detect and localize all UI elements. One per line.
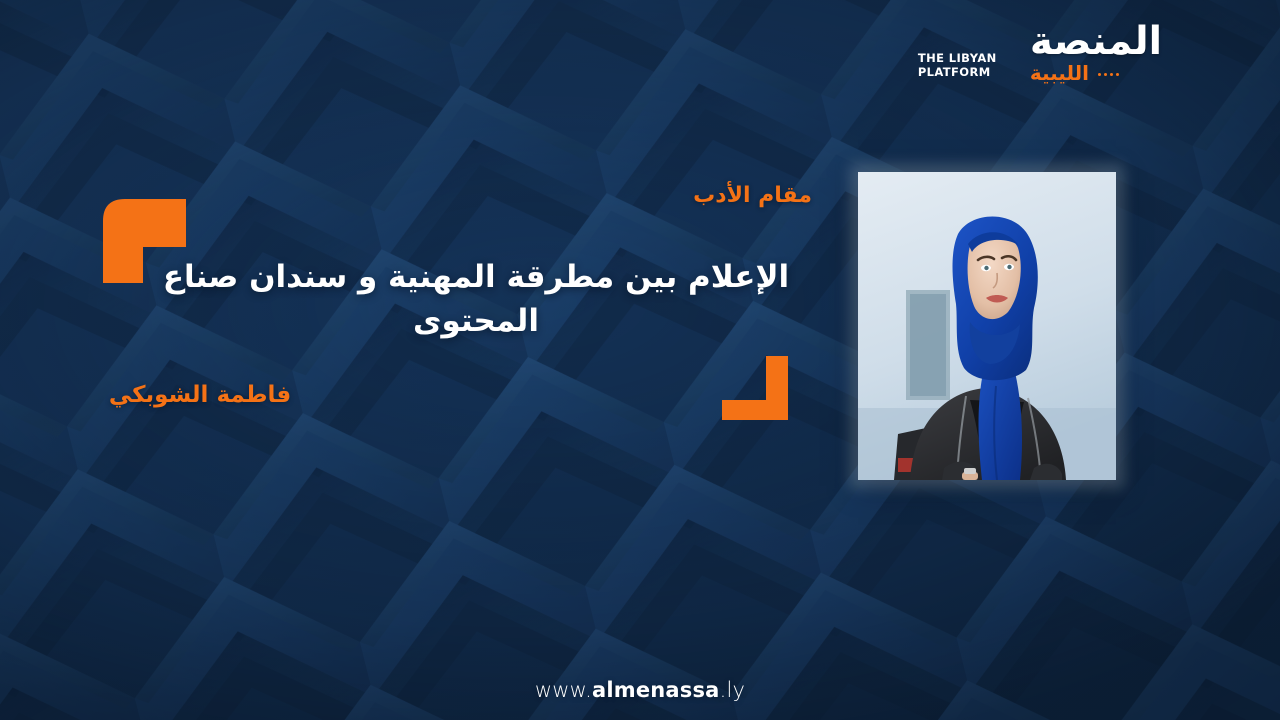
url-prefix: www. (535, 678, 592, 702)
logo-arabic-main: المنصة (1030, 22, 1162, 61)
website-url[interactable]: www.almenassa.ly (0, 678, 1280, 702)
brand-logo[interactable]: المنصة الليبية THE LIBYAN PLATFORM (1030, 22, 1162, 83)
page-title: الإعلام بين مطرقة المهنية و سندان صناع ا… (140, 255, 812, 343)
speaker-name: فاطمة الشوبكي (60, 382, 340, 408)
quote-close-icon (722, 356, 788, 420)
speaker-portrait (858, 172, 1116, 480)
logo-arabic-sub: الليبية (1030, 63, 1089, 83)
logo-arabic-row: المنصة (1030, 22, 1162, 61)
url-tld: .ly (720, 678, 746, 702)
logo-sub-row: الليبية (1030, 63, 1119, 83)
logo-english-text: THE LIBYAN PLATFORM (918, 51, 997, 79)
portrait-image (858, 172, 1116, 480)
category-label: مقام الأدب (140, 183, 812, 208)
url-name: almenassa (592, 678, 720, 702)
episode-card: المنصة الليبية THE LIBYAN PLATFORM مقام … (0, 0, 1280, 720)
logo-dots-icon (1098, 73, 1119, 76)
